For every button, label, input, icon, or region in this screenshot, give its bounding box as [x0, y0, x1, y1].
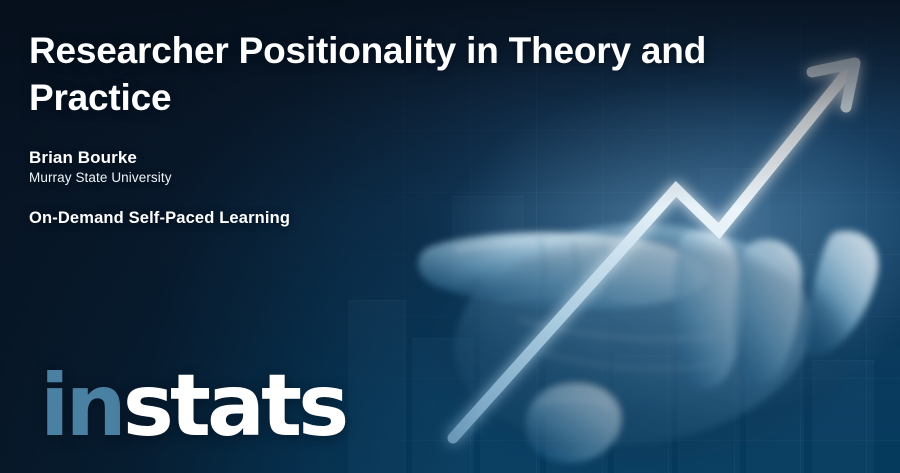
presenter-name: Brian Bourke: [29, 147, 759, 168]
presenter-block: Brian Bourke Murray State University: [29, 147, 759, 187]
page-title-line-2: Practice: [29, 77, 171, 118]
instats-logo: instats: [40, 370, 345, 442]
page-title-line-1: Researcher Positionality in Theory and: [29, 30, 706, 71]
presenter-affiliation: Murray State University: [29, 168, 759, 187]
title-text-block: Researcher Positionality in Theory andPr…: [29, 27, 759, 228]
logo-part-in: in: [40, 356, 123, 456]
page-title: Researcher Positionality in Theory andPr…: [29, 27, 759, 121]
delivery-format-label: On-Demand Self-Paced Learning: [29, 209, 759, 228]
logo-part-stats: stats: [123, 356, 346, 456]
title-slide: Researcher Positionality in Theory andPr…: [0, 0, 900, 473]
